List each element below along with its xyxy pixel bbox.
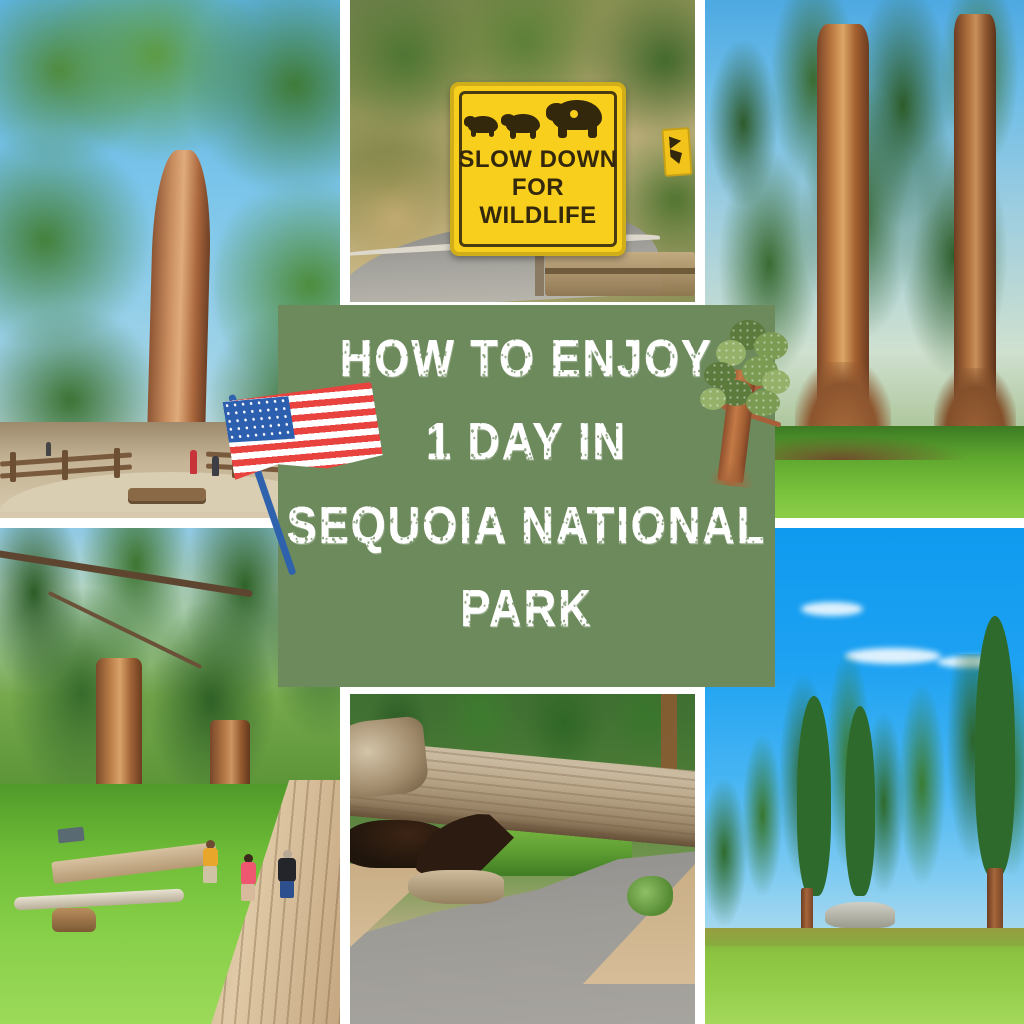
title-line-2: 1 DAY IN [426, 414, 627, 469]
shrub [627, 876, 673, 916]
fence-post [232, 448, 238, 478]
title-line-4: PARK [460, 581, 592, 636]
interpretive-sign [128, 488, 206, 504]
giant-sequoia-trunk [817, 24, 869, 424]
hiker-yellow-shirt [200, 840, 220, 884]
sequoia-trunk-right [954, 14, 996, 424]
guard-rail [545, 252, 695, 296]
hiker-torso [203, 848, 218, 867]
bear-adult-head [546, 103, 568, 121]
bear-cub-head [501, 114, 516, 126]
fence-post [62, 450, 68, 480]
sign-text-line-2: FOR [454, 176, 622, 200]
title-card: HOW TO ENJOY 1 DAY IN SEQUOIA NATIONAL P… [278, 305, 775, 687]
chevron-sign [661, 127, 692, 177]
rock [408, 870, 504, 904]
visitor [46, 442, 51, 456]
hiker-pink-dress [237, 854, 259, 904]
title-line-1-text: HOW TO ENJOY [340, 331, 713, 386]
title-line-2-text: 1 DAY IN [426, 414, 627, 469]
granite-rock [825, 902, 895, 928]
title-line-3-text: SEQUOIA NATIONAL [287, 498, 767, 553]
tall-sequoia [845, 706, 875, 896]
title-text-block: HOW TO ENJOY 1 DAY IN SEQUOIA NATIONAL P… [278, 305, 775, 687]
grass-meadow [705, 928, 1024, 1024]
sign-text-line-1: SLOW DOWN [454, 148, 622, 172]
wildlife-warning-sign: SLOW DOWN FOR WILDLIFE [450, 82, 626, 256]
bear-adult-leg [558, 126, 567, 138]
hiker-torso [278, 858, 296, 882]
bear-cub-leg [510, 130, 516, 139]
hiker-legs [280, 881, 294, 898]
visitor [212, 456, 219, 476]
log-end-cut [350, 715, 430, 801]
tall-sequoia [975, 616, 1015, 876]
hiker-legs [241, 884, 255, 901]
bear-adult-eye [570, 110, 578, 118]
fence-post [114, 448, 120, 478]
bear-cub-head [464, 116, 477, 127]
photo-top-middle: SLOW DOWN FOR WILDLIFE [350, 0, 695, 302]
bear-family-icon [464, 98, 606, 142]
bear-cub-leg [530, 130, 536, 139]
visitor [190, 450, 197, 474]
photo-bottom-middle [350, 694, 695, 1024]
title-line-4-text: PARK [460, 581, 592, 636]
hiker-black-shirt [275, 850, 299, 902]
tree-stump [52, 908, 96, 932]
cloud [801, 602, 863, 616]
tall-sequoia [797, 696, 831, 896]
bear-cub-leg [471, 130, 476, 137]
fence-post [10, 452, 16, 482]
poster-canvas: SLOW DOWN FOR WILDLIFE [0, 0, 1024, 1024]
sign-text-line-3: WILDLIFE [454, 204, 622, 228]
title-line-1: HOW TO ENJOY [340, 331, 713, 386]
hiker-torso [241, 862, 256, 885]
hiker-legs [203, 866, 217, 883]
bear-adult-leg [588, 126, 597, 138]
trail-sign [57, 827, 84, 844]
bear-cub-leg [489, 130, 494, 137]
title-line-3: SEQUOIA NATIONAL [287, 498, 767, 553]
